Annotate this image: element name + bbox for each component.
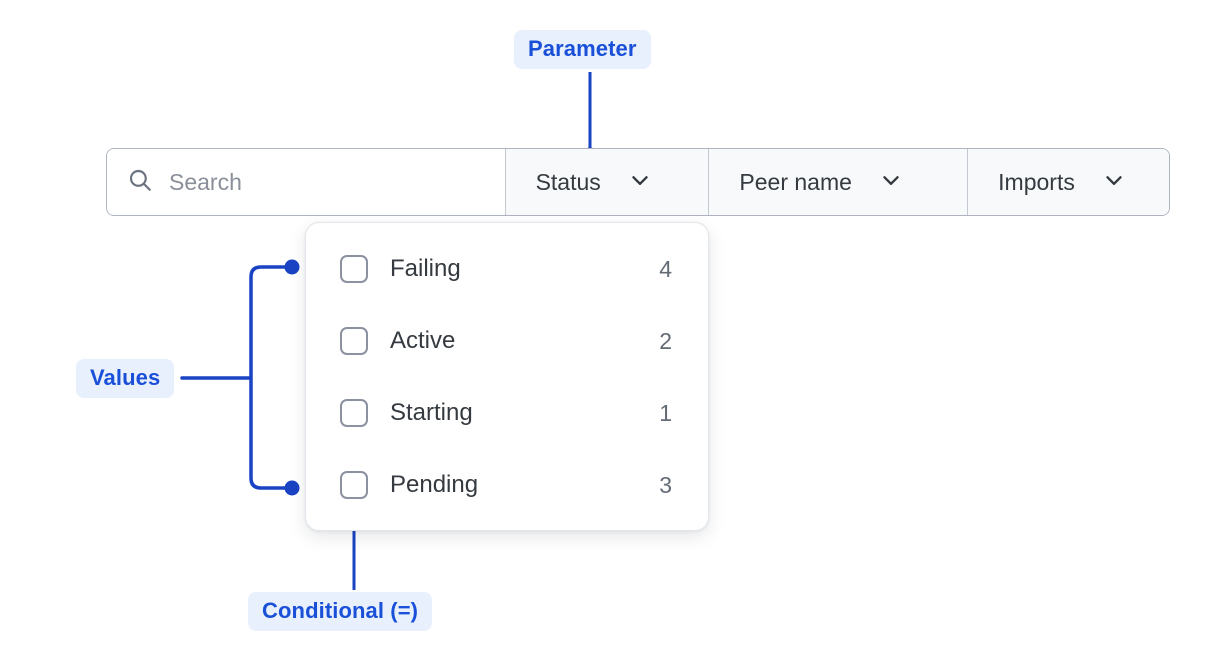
connector-dot-values-bottom [285,481,300,496]
dropdown-option-row[interactable]: Active 2 [306,317,708,365]
connector-values [182,267,287,488]
filter-label-peer-name: Peer name [739,169,852,196]
search-input[interactable] [169,169,489,196]
filter-dropdown-peer-name[interactable]: Peer name [709,149,968,215]
dropdown-option-row[interactable]: Failing 4 [306,245,708,293]
option-count: 4 [659,256,672,283]
filter-label-imports: Imports [998,169,1075,196]
checkbox-failing[interactable] [340,255,368,283]
checkbox-active[interactable] [340,327,368,355]
option-label: Active [390,327,455,355]
chevron-down-icon [878,167,904,198]
search-icon [127,167,153,198]
chevron-down-icon [627,167,653,198]
option-count: 3 [659,472,672,499]
filter-toolbar: Status Peer name Imports [106,148,1170,216]
option-count: 1 [659,400,672,427]
option-label: Failing [390,255,461,283]
option-label: Starting [390,399,473,427]
option-count: 2 [659,328,672,355]
connector-dot-values-top [285,260,300,275]
annotation-label-conditional: Conditional (=) [248,592,432,631]
filter-label-status: Status [536,169,601,196]
search-cell[interactable] [107,149,506,215]
annotation-label-parameter: Parameter [514,30,651,69]
option-label: Pending [390,471,478,499]
checkbox-starting[interactable] [340,399,368,427]
checkbox-pending[interactable] [340,471,368,499]
dropdown-option-row[interactable]: Pending 3 [306,461,708,509]
filter-dropdown-status[interactable]: Status [506,149,710,215]
filter-dropdown-imports[interactable]: Imports [968,149,1169,215]
status-filter-dropdown-panel: Failing 4 Active 2 Starting 1 Pending 3 [305,222,709,531]
annotation-label-values: Values [76,359,174,398]
dropdown-option-row[interactable]: Starting 1 [306,389,708,437]
chevron-down-icon [1101,167,1127,198]
